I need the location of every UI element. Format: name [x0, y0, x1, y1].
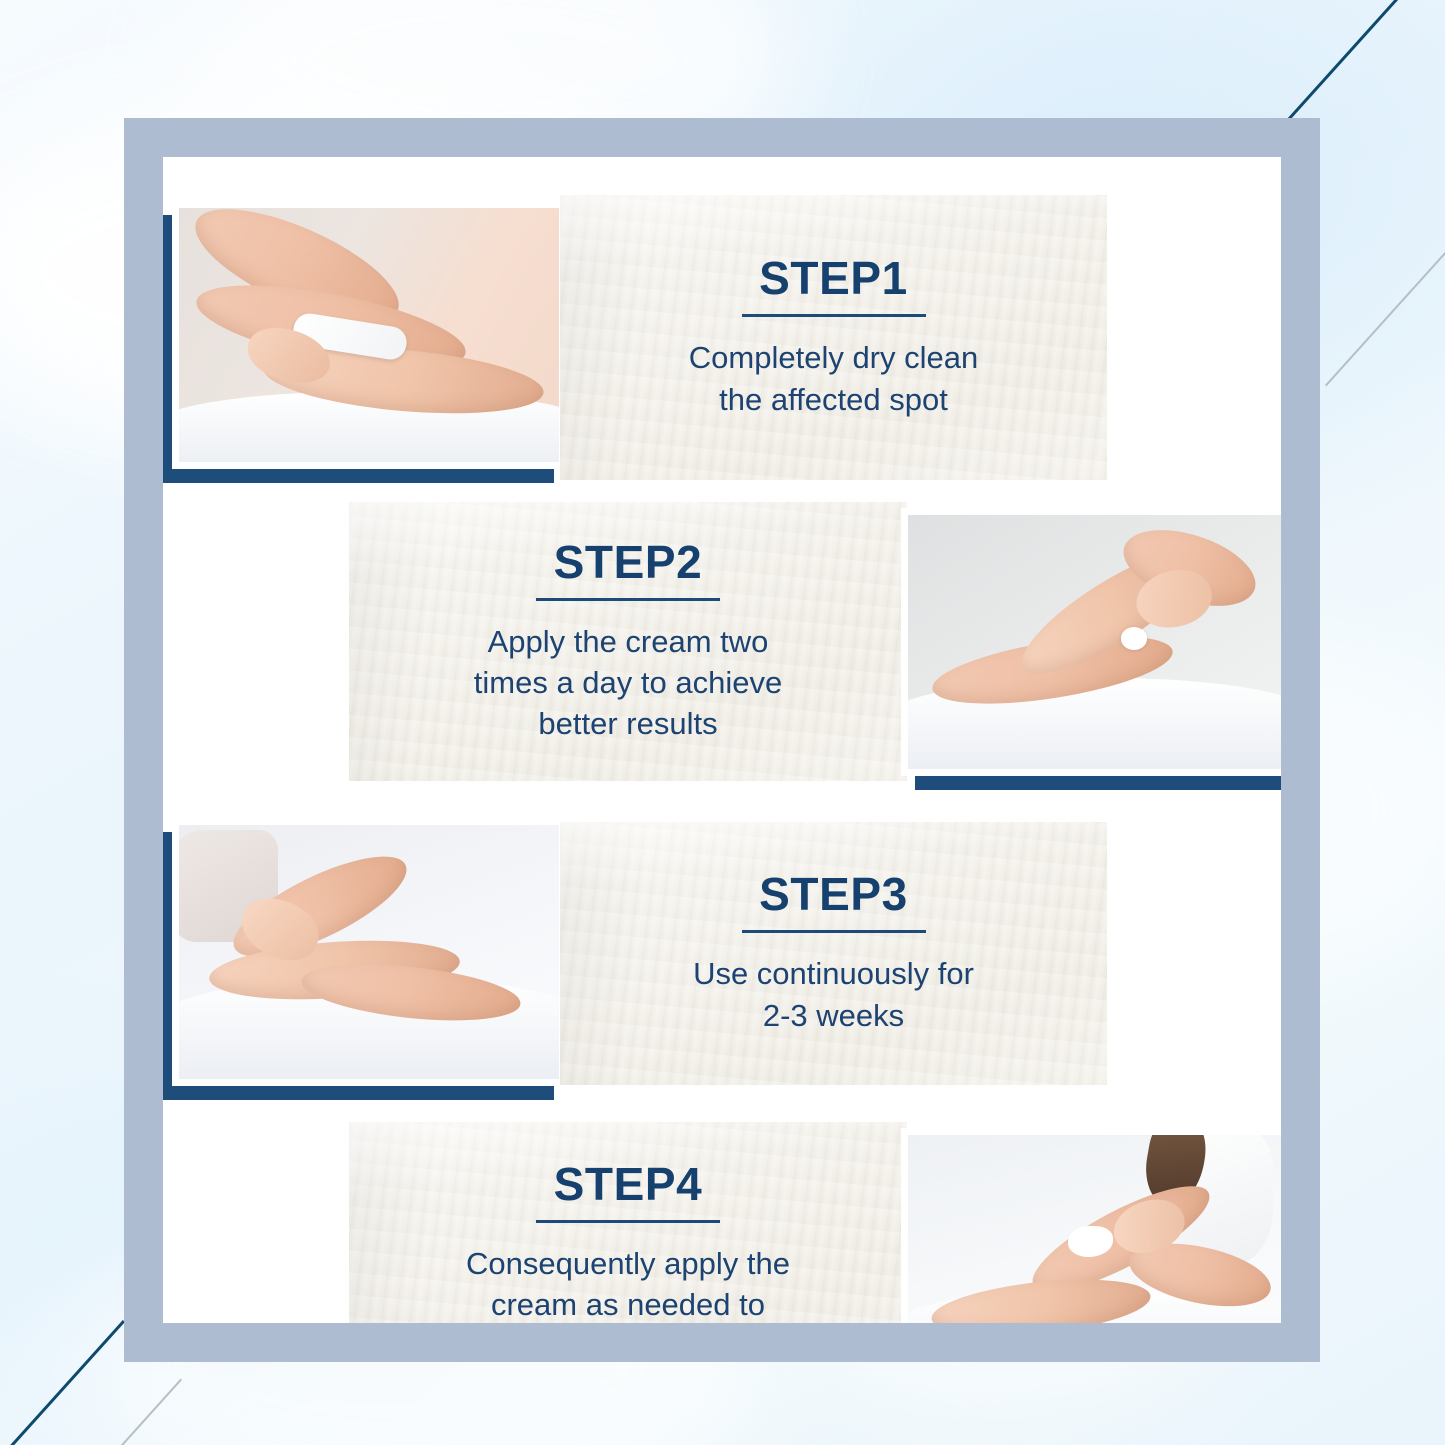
step-2-photo-block	[901, 508, 1281, 776]
step-1-photo	[179, 208, 559, 462]
photo-white-frame	[901, 1128, 1281, 1323]
photo-white-frame	[901, 508, 1281, 776]
step-4-title: STEP4	[554, 1161, 703, 1207]
step-4-photo-block	[901, 1128, 1281, 1323]
step-row-1: STEP1 Completely dry cleanthe affected s…	[163, 195, 1281, 487]
photo-white-frame	[172, 818, 566, 1086]
step-row-4: STEP4 Consequently apply thecream as nee…	[163, 1122, 1281, 1323]
step-1-photo-block	[172, 201, 566, 469]
inner-white-panel: STEP1 Completely dry cleanthe affected s…	[163, 157, 1281, 1323]
step-3-title-underline	[742, 930, 926, 933]
step-2-description: Apply the cream twotimes a day to achiev…	[474, 621, 782, 745]
infographic-page: STEP1 Completely dry cleanthe affected s…	[0, 0, 1445, 1445]
step-row-3: STEP3 Use continuously for2-3 weeks	[163, 812, 1281, 1112]
step-2-text-panel: STEP2 Apply the cream twotimes a day to …	[349, 502, 907, 781]
step-2-title: STEP2	[554, 539, 703, 585]
step-1-description: Completely dry cleanthe affected spot	[689, 337, 978, 419]
step-2-photo	[908, 515, 1281, 769]
step-3-description: Use continuously for2-3 weeks	[693, 953, 974, 1035]
step-1-text-panel: STEP1 Completely dry cleanthe affected s…	[560, 195, 1107, 480]
decorative-diagonal-line-top-right-light	[1325, 140, 1445, 387]
decorative-diagonal-line-bottom-left-dark	[0, 1320, 125, 1445]
step-3-photo	[179, 825, 559, 1079]
step-4-photo	[908, 1135, 1281, 1323]
step-3-title: STEP3	[759, 871, 908, 917]
step-1-title: STEP1	[759, 255, 908, 301]
step-3-photo-block	[172, 818, 566, 1086]
step-4-title-underline	[536, 1220, 720, 1223]
step-2-title-underline	[536, 598, 720, 601]
step-row-2: STEP2 Apply the cream twotimes a day to …	[163, 502, 1281, 802]
decorative-diagonal-line-bottom-left-light	[13, 1379, 182, 1445]
step-1-title-underline	[742, 314, 926, 317]
outer-frame-border: STEP1 Completely dry cleanthe affected s…	[124, 118, 1320, 1362]
photo-white-frame	[172, 201, 566, 469]
step-4-description: Consequently apply thecream as needed to…	[441, 1243, 815, 1323]
step-4-text-panel: STEP4 Consequently apply thecream as nee…	[349, 1122, 907, 1323]
step-3-text-panel: STEP3 Use continuously for2-3 weeks	[560, 822, 1107, 1085]
